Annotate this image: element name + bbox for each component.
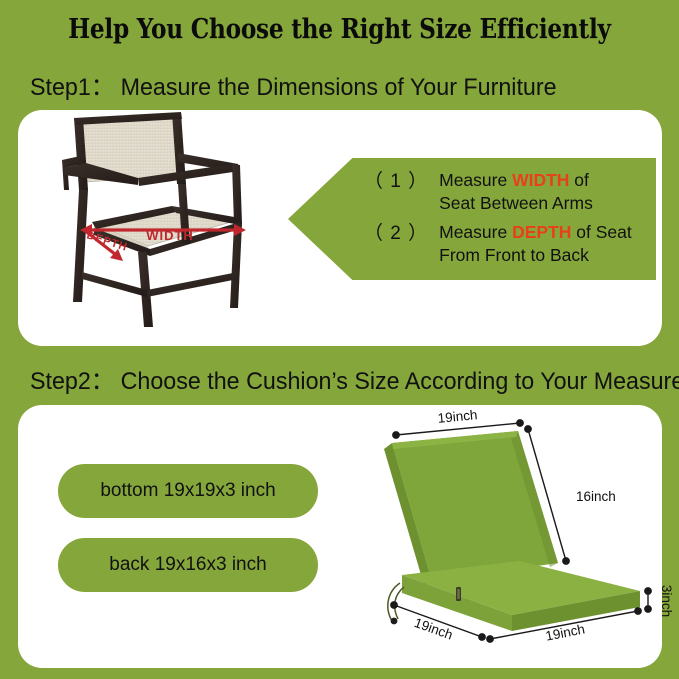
callout-item-1: （ 1 ） Measure WIDTH of Seat Between Arms [364, 169, 593, 215]
size-pill-back-label: back 19x16x3 inch [109, 554, 266, 576]
cushion-zipper-pull [456, 587, 461, 601]
size-pill-bottom: bottom 19x19x3 inch [58, 464, 318, 518]
dim-back-height: 16inch [576, 489, 616, 504]
callout-item-1-number: （ 1 ） [364, 169, 428, 194]
measurement-callout: （ 1 ） Measure WIDTH of Seat Between Arms… [288, 158, 656, 280]
dim-thickness: 3inch [659, 585, 674, 617]
callout-item-2-pre: Measure [439, 222, 512, 242]
dim-back-width: 19inch [437, 407, 478, 426]
callout-item-1-post: of [569, 170, 588, 190]
size-pill-bottom-label: bottom 19x19x3 inch [100, 480, 275, 502]
callout-item-2: （ 2 ） Measure DEPTH of Seat From Front t… [364, 221, 632, 267]
step1-heading: Step1： Measure the Dimensions of Your Fu… [30, 68, 557, 103]
page-title: Help You Choose the Right Size Efficient… [48, 14, 632, 45]
callout-item-1-line1: Measure WIDTH of [439, 169, 593, 192]
size-pill-back: back 19x16x3 inch [58, 538, 318, 592]
chair-width-label: WIDTH [146, 228, 194, 243]
callout-item-2-line2: From Front to Back [439, 244, 632, 267]
callout-item-1-line2: Seat Between Arms [439, 192, 593, 215]
callout-item-1-highlight: WIDTH [512, 170, 569, 190]
chair-legs [73, 184, 242, 327]
callout-item-2-post: of Seat [571, 222, 631, 242]
callout-item-2-number: （ 2 ） [364, 221, 428, 246]
dim-seat-width: 19inch [544, 621, 586, 643]
callout-item-2-highlight: DEPTH [512, 222, 571, 242]
cushion-illustration: 19inch 16inch 3inch 19inch 19inch [370, 415, 670, 660]
callout-item-1-pre: Measure [439, 170, 512, 190]
callout-item-2-line1: Measure DEPTH of Seat [439, 221, 632, 244]
cushion-back [384, 431, 558, 585]
step2-heading: Step2： Choose the Cushion’s Size Accordi… [30, 362, 679, 397]
infographic-root: Help You Choose the Right Size Efficient… [0, 0, 679, 679]
cushion-tie-knot [391, 618, 398, 625]
chair-illustration: WIDTH DEPTH [52, 112, 296, 334]
